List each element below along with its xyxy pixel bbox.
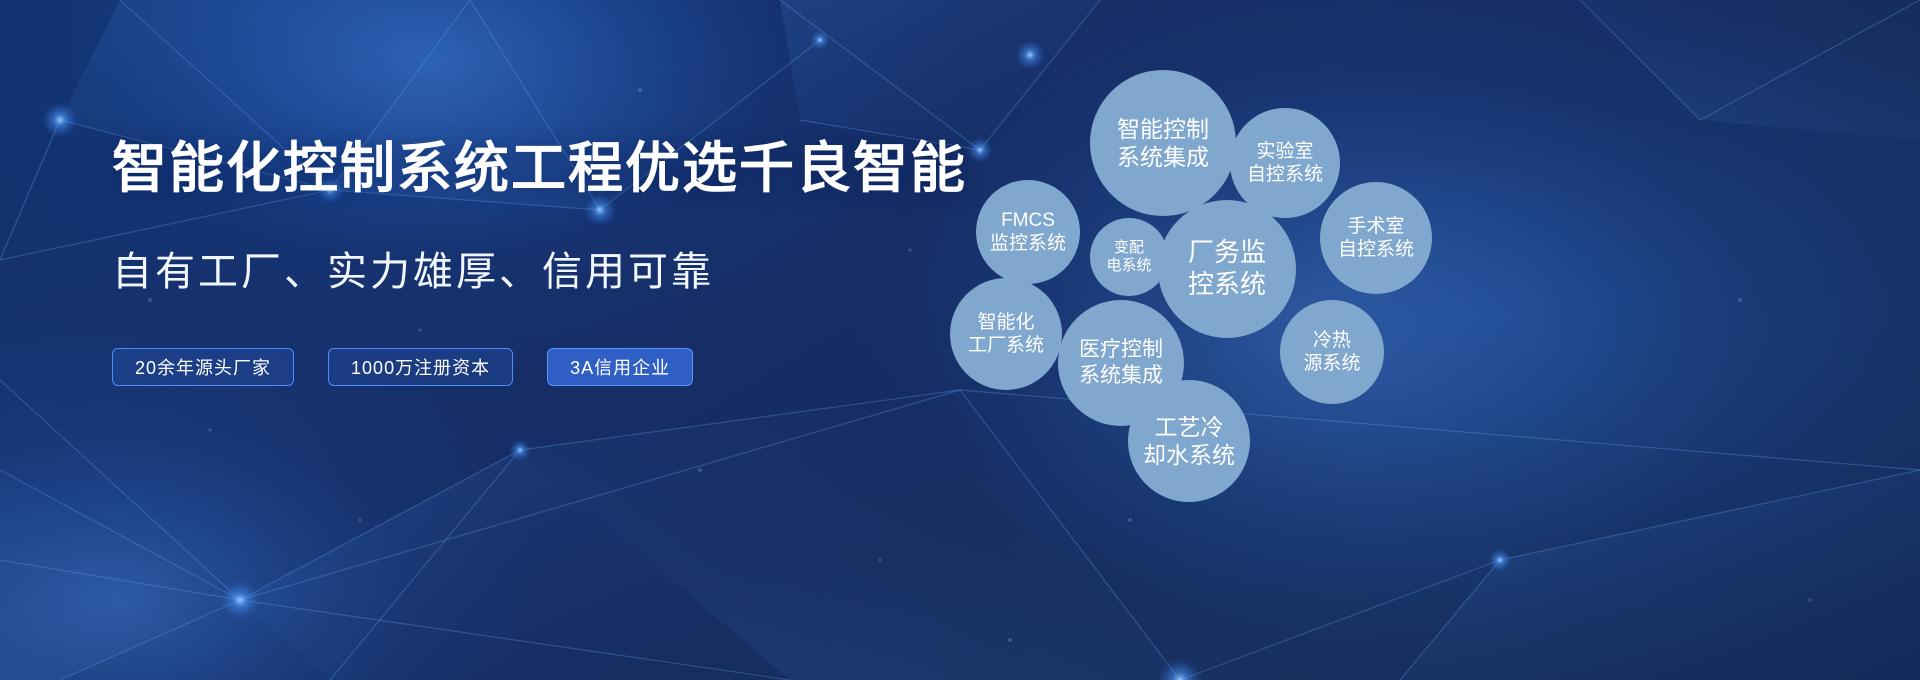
bubble-label: 智能化工厂系统	[962, 311, 1050, 357]
bubble-intelligent-factory[interactable]: 智能化工厂系统	[950, 278, 1062, 390]
badge-row: 20余年源头厂家 1000万注册资本 3A信用企业	[112, 348, 952, 386]
bubble-label: 冷热源系统	[1297, 329, 1366, 375]
bubble-label: 变配电系统	[1100, 239, 1157, 276]
service-bubble-cluster: 智能控制系统集成实验室自控系统FMCS监控系统变配电系统手术室自控系统厂务监控系…	[930, 60, 1710, 500]
badge-registered-capital[interactable]: 1000万注册资本	[328, 348, 513, 386]
bubble-power-distribution[interactable]: 变配电系统	[1090, 218, 1168, 296]
badge-years-factory[interactable]: 20余年源头厂家	[112, 348, 294, 386]
page-title: 智能化控制系统工程优选千良智能	[112, 138, 952, 200]
bubble-operating-room-automation[interactable]: 手术室自控系统	[1320, 182, 1432, 294]
bubble-plant-service-monitoring[interactable]: 厂务监控系统	[1158, 200, 1296, 338]
bubble-intelligent-control-integration[interactable]: 智能控制系统集成	[1090, 70, 1236, 216]
bubble-process-cooling-water[interactable]: 工艺冷却水系统	[1128, 380, 1250, 502]
bubble-label: 智能控制系统集成	[1111, 115, 1215, 171]
badge-3a-credit[interactable]: 3A信用企业	[547, 348, 693, 386]
bubble-label: 医疗控制系统集成	[1073, 337, 1169, 388]
bubble-fmcs-monitoring[interactable]: FMCS监控系统	[976, 180, 1080, 284]
bubble-label: 工艺冷却水系统	[1137, 413, 1241, 469]
bubble-label: FMCS监控系统	[984, 209, 1072, 255]
hero-banner: 智能化控制系统工程优选千良智能 自有工厂、实力雄厚、信用可靠 20余年源头厂家 …	[0, 0, 1920, 680]
page-subtitle: 自有工厂、实力雄厚、信用可靠	[112, 248, 952, 296]
bubble-label: 厂务监控系统	[1182, 237, 1272, 300]
hero-text-block: 智能化控制系统工程优选千良智能 自有工厂、实力雄厚、信用可靠 20余年源头厂家 …	[112, 138, 952, 386]
bubble-lab-automation[interactable]: 实验室自控系统	[1230, 108, 1340, 218]
bubble-heat-cold-source[interactable]: 冷热源系统	[1280, 300, 1384, 404]
bubble-label: 实验室自控系统	[1241, 140, 1329, 186]
bubble-label: 手术室自控系统	[1332, 215, 1420, 261]
